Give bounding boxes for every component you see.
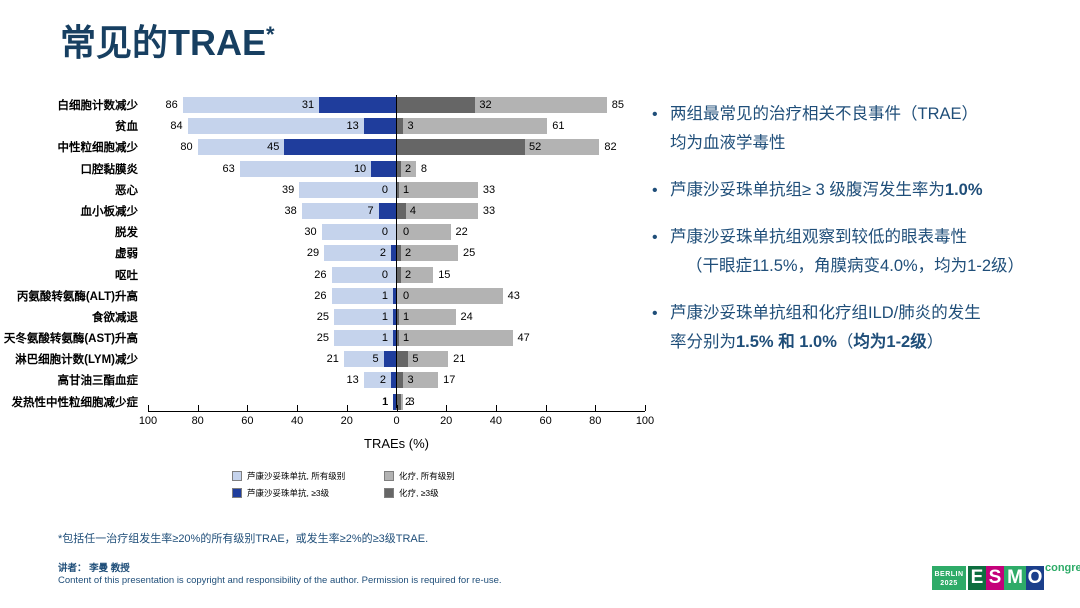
x-tick [595, 405, 596, 411]
chart-category-label: 脱发 [0, 224, 138, 240]
copyright-notice: Content of this presentation is copyrigh… [58, 575, 502, 586]
chart-row: 贫血8413361 [0, 116, 660, 137]
logo-city-year: BERLIN 2025 [932, 566, 966, 590]
legend-label: 芦康沙妥珠单抗, 所有级别 [247, 470, 345, 482]
chart-category-label: 丙氨酸转氨酶(ALT)升高 [0, 288, 138, 304]
key-finding-item: •芦康沙妥珠单抗组观察到较低的眼表毒性（干眼症11.5%，角膜病变4.0%，均为… [648, 223, 1068, 281]
value-left-all-grades: 25 [298, 310, 329, 325]
value-right-all-grades: 82 [604, 140, 630, 155]
bar-right-grade3 [396, 203, 406, 219]
value-left-all-grades: 84 [152, 119, 183, 134]
chart-row: 恶心390133 [0, 180, 660, 201]
x-tick [496, 405, 497, 411]
x-tick [198, 405, 199, 411]
x-tick [297, 405, 298, 411]
value-left-all-grades: 25 [298, 331, 329, 346]
key-finding-line: 率分别为1.5% 和 1.0%（均为1-2级） [670, 328, 1068, 357]
chart-category-label: 恶心 [0, 182, 138, 198]
value-right-all-grades: 61 [552, 119, 578, 134]
value-left-all-grades: 26 [296, 289, 327, 304]
chart-center-axis [396, 95, 397, 408]
bar-right-grade3 [396, 118, 403, 134]
x-tick-label: 100 [128, 415, 168, 427]
legend-row: 芦康沙妥珠单抗, 所有级别 化疗, 所有级别 [232, 470, 552, 482]
legend-label: 化疗, ≥3级 [399, 487, 439, 499]
value-right-grade3: 0 [403, 289, 423, 304]
x-tick [446, 405, 447, 411]
x-tick-label: 20 [327, 415, 367, 427]
value-left-all-grades: 80 [162, 140, 193, 155]
key-finding-text: 两组最常见的治疗相关不良事件（TRAE） [670, 105, 978, 123]
legend-item-sac-tmt-g3: 芦康沙妥珠单抗, ≥3级 [232, 487, 384, 499]
value-right-grade3: 32 [479, 98, 499, 113]
legend-item-sac-tmt-all: 芦康沙妥珠单抗, 所有级别 [232, 470, 384, 482]
chart-category-label: 虚弱 [0, 245, 138, 261]
key-finding-line: 均为血液学毒性 [670, 129, 1068, 158]
x-tick [546, 405, 547, 411]
value-left-grade3: 1 [360, 310, 388, 325]
x-tick [247, 405, 248, 411]
key-finding-emphasis: 1.5% 和 1.0% [736, 333, 837, 351]
logo-letter-s: S [986, 566, 1004, 590]
chart-category-label: 发热性中性粒细胞减少症 [0, 394, 138, 410]
chart-row: 口腔黏膜炎631028 [0, 159, 660, 180]
value-right-grade3: 1 [403, 310, 423, 325]
page-title: 常见的TRAE* [60, 14, 275, 66]
value-right-grade3: 1 [403, 183, 423, 198]
x-tick-label: 20 [426, 415, 466, 427]
chart-row: 高甘油三酯血症132317 [0, 370, 660, 391]
key-finding-text: 芦康沙妥珠单抗组观察到较低的眼表毒性 [670, 228, 967, 246]
chart-row: 天冬氨酸转氨酶(AST)升高251147 [0, 328, 660, 349]
bullet-dot-icon: • [652, 299, 658, 328]
value-right-grade3: 3 [407, 119, 427, 134]
value-left-all-grades: 26 [296, 268, 327, 283]
key-finding-emphasis: 1.0% [945, 181, 983, 199]
value-left-grade3: 45 [251, 140, 279, 155]
chart-category-label: 口腔黏膜炎 [0, 161, 138, 177]
chart-row: 淋巴细胞计数(LYM)减少215521 [0, 349, 660, 370]
bar-right-grade3 [396, 351, 408, 367]
x-tick-label: 60 [227, 415, 267, 427]
key-finding-emphasis: 均为1-2级 [853, 333, 926, 351]
chart-row: 脱发300022 [0, 222, 660, 243]
chart-category-label: 贫血 [0, 118, 138, 134]
key-finding-item: •芦康沙妥珠单抗组和化疗组ILD/肺炎的发生率分别为1.5% 和 1.0%（均为… [648, 299, 1068, 357]
value-left-grade3: 0 [360, 268, 388, 283]
value-right-grade3: 5 [412, 352, 432, 367]
chart-row: 呕吐260215 [0, 265, 660, 286]
bullet-dot-icon: • [652, 100, 658, 129]
key-finding-text: 率分别为 [670, 333, 736, 351]
bar-right-all-grades [396, 203, 478, 219]
chart-category-label: 淋巴细胞计数(LYM)减少 [0, 351, 138, 367]
value-left-all-grades: 86 [147, 98, 178, 113]
chart-x-axis-title: TRAEs (%) [0, 436, 793, 451]
value-left-grade3: 2 [358, 373, 386, 388]
value-right-all-grades: 8 [421, 162, 447, 177]
value-left-grade3: 31 [286, 98, 314, 113]
chart-row: 虚弱292225 [0, 243, 660, 264]
value-left-all-grades: 21 [308, 352, 339, 367]
value-left-grade3: 0 [360, 225, 388, 240]
x-tick [645, 405, 646, 411]
value-left-all-grades: 13 [328, 373, 359, 388]
legend-swatch-icon [384, 488, 394, 498]
value-right-all-grades: 17 [443, 373, 469, 388]
chart-row: 丙氨酸转氨酶(ALT)升高261043 [0, 286, 660, 307]
key-finding-text: 均为血液学毒性 [670, 134, 786, 152]
chart-x-axis-line [148, 411, 645, 412]
key-finding-line: 两组最常见的治疗相关不良事件（TRAE） [670, 100, 1068, 129]
value-left-grade3: 1 [360, 331, 388, 346]
value-right-grade3: 4 [410, 204, 430, 219]
value-left-grade3: 5 [351, 352, 379, 367]
bar-left-grade3 [371, 161, 396, 177]
chart-category-label: 中性粒细胞减少 [0, 139, 138, 155]
legend-item-chemo-all: 化疗, 所有级别 [384, 470, 455, 482]
x-tick [148, 405, 149, 411]
key-finding-line: 芦康沙妥珠单抗组观察到较低的眼表毒性 [670, 223, 1068, 252]
logo-letter-e: E [968, 566, 986, 590]
value-right-all-grades: 85 [612, 98, 638, 113]
key-finding-item: •两组最常见的治疗相关不良事件（TRAE）均为血液学毒性 [648, 100, 1068, 158]
value-right-all-grades: 24 [461, 310, 487, 325]
value-right-all-grades: 33 [483, 204, 509, 219]
chart-row: 白细胞计数减少86313285 [0, 95, 660, 116]
x-tick [397, 405, 398, 411]
bar-right-grade3 [396, 97, 475, 113]
chart-category-label: 高甘油三酯血症 [0, 372, 138, 388]
bar-left-grade3 [319, 97, 396, 113]
value-right-all-grades: 43 [508, 289, 534, 304]
value-left-all-grades: 38 [266, 204, 297, 219]
chart-category-label: 食欲减退 [0, 309, 138, 325]
legend-swatch-icon [232, 471, 242, 481]
value-right-all-grades: 22 [456, 225, 482, 240]
key-finding-text: （ [837, 333, 854, 351]
bullet-dot-icon: • [652, 176, 658, 205]
value-right-all-grades: 25 [463, 246, 489, 261]
bar-left-grade3 [364, 118, 396, 134]
bar-left-grade3 [284, 139, 396, 155]
logo-letter-m: M [1004, 566, 1026, 590]
value-left-grade3: 1 [360, 289, 388, 304]
x-tick-label: 80 [575, 415, 615, 427]
chart-category-label: 白细胞计数减少 [0, 97, 138, 113]
value-right-grade3: 3 [407, 373, 427, 388]
legend-label: 芦康沙妥珠单抗, ≥3级 [247, 487, 329, 499]
bar-right-grade3 [396, 372, 403, 388]
chart-category-label: 血小板减少 [0, 203, 138, 219]
key-findings-list: •两组最常见的治疗相关不良事件（TRAE）均为血液学毒性•芦康沙妥珠单抗组≥ 3… [648, 100, 1068, 375]
x-tick [347, 405, 348, 411]
x-tick-label: 100 [625, 415, 665, 427]
logo-city: BERLIN [934, 571, 963, 578]
traes-diverging-bar-chart: 白细胞计数减少86313285贫血8413361中性粒细胞减少80455282口… [0, 95, 660, 435]
legend-row: 芦康沙妥珠单抗, ≥3级 化疗, ≥3级 [232, 487, 552, 499]
presenter-name: 讲者： 李曼 教授 [58, 560, 130, 574]
legend-swatch-icon [232, 488, 242, 498]
value-left-grade3: 1 [360, 395, 388, 410]
value-left-all-grades: 30 [286, 225, 317, 240]
bar-left-grade3 [379, 203, 396, 219]
bar-left-grade3 [384, 351, 396, 367]
bullet-dot-icon: • [652, 223, 658, 252]
value-left-all-grades: 63 [204, 162, 235, 177]
page-title-text: 常见的TRAE [60, 22, 266, 63]
chart-row: 食欲减退251124 [0, 307, 660, 328]
footnote: *包括任一治疗组发生率≥20%的所有级别TRAE，或发生率≥2%的≥3级TRAE… [58, 530, 428, 546]
legend-label: 化疗, 所有级别 [399, 470, 455, 482]
x-tick-label: 80 [178, 415, 218, 427]
chart-legend: 芦康沙妥珠单抗, 所有级别 化疗, 所有级别 芦康沙妥珠单抗, ≥3级 化疗, … [232, 470, 552, 504]
logo-word-congress: congress [1045, 562, 1080, 574]
key-finding-text: 芦康沙妥珠单抗组≥ 3 级腹泻发生率为 [670, 181, 945, 199]
value-right-grade3: 2 [405, 268, 425, 283]
value-left-grade3: 7 [346, 204, 374, 219]
logo-letter-o: O [1026, 566, 1044, 590]
key-finding-item: •芦康沙妥珠单抗组≥ 3 级腹泻发生率为1.0% [648, 176, 1068, 205]
key-finding-text: （干眼症11.5%，角膜病变4.0%，均为1-2级） [686, 257, 1024, 275]
x-tick-label: 0 [377, 415, 417, 427]
key-finding-line: 芦康沙妥珠单抗组和化疗组ILD/肺炎的发生 [670, 299, 1068, 328]
value-right-all-grades: 21 [453, 352, 479, 367]
x-tick-label: 40 [476, 415, 516, 427]
value-left-grade3: 10 [338, 162, 366, 177]
value-right-grade3: 0 [403, 225, 423, 240]
value-left-grade3: 13 [331, 119, 359, 134]
value-right-grade3: 1 [403, 331, 423, 346]
page-title-superscript: * [266, 22, 275, 47]
value-left-all-grades: 29 [288, 246, 319, 261]
legend-item-chemo-g3: 化疗, ≥3级 [384, 487, 439, 499]
key-finding-line: 芦康沙妥珠单抗组≥ 3 级腹泻发生率为1.0% [670, 176, 1068, 205]
logo-year: 2025 [940, 580, 958, 587]
chart-category-label: 天冬氨酸转氨酶(AST)升高 [0, 330, 138, 346]
value-right-grade3: 2 [405, 246, 425, 261]
chart-row: 中性粒细胞减少80455282 [0, 137, 660, 158]
chart-row: 发热性中性粒细胞减少症1123 [0, 392, 660, 413]
key-finding-text: ） [927, 333, 944, 351]
x-tick-label: 60 [526, 415, 566, 427]
value-right-all-grades: 3 [408, 395, 434, 410]
value-left-all-grades: 39 [263, 183, 294, 198]
value-right-all-grades: 33 [483, 183, 509, 198]
value-right-all-grades: 15 [438, 268, 464, 283]
value-left-grade3: 2 [358, 246, 386, 261]
key-finding-line: （干眼症11.5%，角膜病变4.0%，均为1-2级） [670, 252, 1068, 281]
value-right-all-grades: 47 [518, 331, 544, 346]
chart-category-label: 呕吐 [0, 267, 138, 283]
key-finding-text: 芦康沙妥珠单抗组和化疗组ILD/肺炎的发生 [670, 304, 981, 322]
chart-row: 血小板减少387433 [0, 201, 660, 222]
value-right-grade3: 52 [529, 140, 549, 155]
value-left-grade3: 0 [360, 183, 388, 198]
bar-right-grade3 [396, 139, 525, 155]
esmo-congress-logo: BERLIN 2025 E S M O congress [932, 560, 1072, 600]
legend-swatch-icon [384, 471, 394, 481]
x-tick-label: 40 [277, 415, 317, 427]
